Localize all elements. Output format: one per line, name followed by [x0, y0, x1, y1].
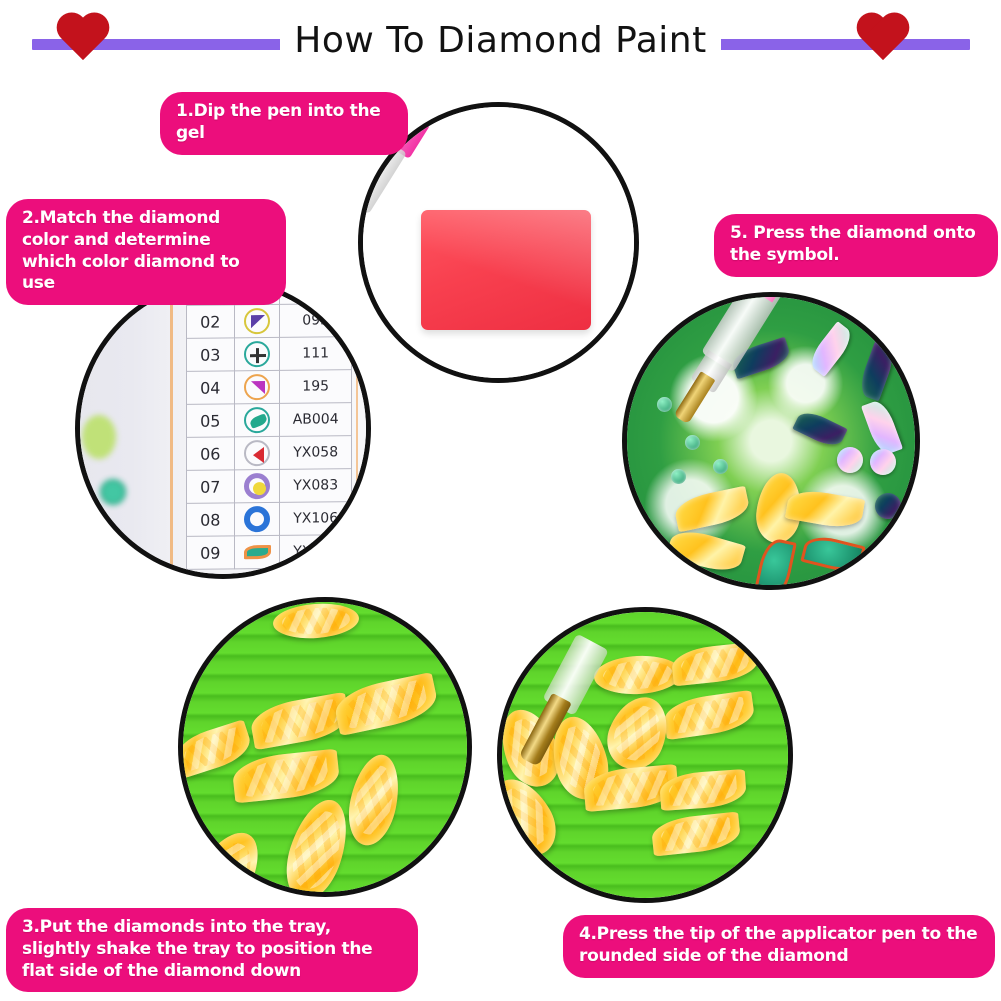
ab-gem	[806, 321, 857, 377]
chart-number: 06	[187, 437, 235, 470]
chart-scene: 01 020 02 093 03	[80, 283, 366, 574]
round-gem	[870, 449, 896, 475]
chart-number: 08	[187, 503, 235, 536]
step-5-label: 5. Press the diamond onto the symbol.	[714, 214, 998, 277]
arrow-left-icon	[244, 440, 270, 466]
diamond-gem	[650, 811, 741, 856]
green-printed-petal	[753, 536, 797, 590]
chart-symbol-cell	[234, 502, 280, 535]
chart-symbol-cell	[234, 535, 280, 568]
green-tray-scene	[183, 602, 467, 892]
table-row: 05 AB004	[187, 403, 352, 438]
chart-number: 09	[187, 536, 235, 569]
yellow-gem	[666, 525, 746, 576]
ring-icon	[244, 506, 270, 532]
page-title: How To Diamond Paint	[0, 20, 1001, 61]
chart-symbol-cell	[234, 469, 280, 502]
pen-gold-tip	[673, 371, 715, 424]
diamond-gem	[670, 642, 759, 687]
chart-symbol-cell	[234, 304, 280, 337]
table-row: 04 195	[187, 370, 352, 405]
step-1-label: 1.Dip the pen into the gel	[160, 92, 408, 155]
chart-number: 03	[187, 338, 235, 371]
chart-guide-line-left	[170, 283, 173, 574]
chart-symbol-cell	[234, 436, 280, 469]
table-row: 08 YX106	[187, 502, 352, 537]
canvas-blot-teal	[100, 479, 126, 505]
triangle-right-icon	[244, 374, 270, 400]
diamond-gem	[248, 692, 352, 750]
table-row: 03 111	[187, 337, 352, 372]
photo-pen-tip-on-diamond	[497, 607, 793, 903]
filled-circle-icon	[244, 473, 270, 499]
table-row: 07 YX083	[187, 469, 352, 504]
dark-gem	[856, 341, 898, 402]
green-tray-scene	[502, 612, 788, 898]
chart-symbol-cell	[234, 370, 280, 403]
chart-code: 195	[280, 370, 352, 404]
diamond-gem	[332, 672, 441, 736]
diamond-gem	[178, 821, 272, 897]
chart-code: YX058	[280, 436, 352, 470]
gel-scene	[363, 107, 634, 378]
chart-code: YX125	[280, 535, 352, 569]
leaf-icon	[244, 539, 270, 565]
yellow-gem	[672, 486, 751, 533]
chart-code: YX106	[280, 502, 352, 536]
diamond-gem	[276, 793, 358, 897]
chart-code: 020	[280, 278, 352, 304]
step-4-label: 4.Press the tip of the applicator pen to…	[563, 915, 995, 978]
chart-number: 05	[187, 404, 235, 437]
infographic-page: How To Diamond Paint 1.Dip the pen into …	[0, 0, 1001, 1001]
chart-code: 111	[280, 337, 352, 371]
triangle-left-icon	[244, 308, 270, 334]
table-row: 09 YX125	[187, 535, 352, 570]
printed-dot	[671, 469, 686, 484]
green-printed-petal	[800, 532, 865, 576]
round-gem	[837, 447, 863, 473]
diamond-gem	[272, 601, 360, 641]
page-title-text: How To Diamond Paint	[280, 20, 720, 61]
step-3-label: 3.Put the diamonds into the tray, slight…	[6, 908, 418, 992]
diamond-gem	[662, 690, 756, 740]
chart-number: 04	[187, 371, 235, 404]
color-chart-table: 01 020 02 093 03	[186, 278, 352, 570]
canvas-blot-green	[82, 415, 116, 459]
chart-symbol-cell	[234, 337, 280, 370]
chart-code: 093	[280, 304, 352, 338]
dark-gem	[792, 407, 847, 450]
red-gel-pad	[421, 210, 591, 330]
photo-pressing-diamond-onto-symbol	[622, 292, 920, 590]
photo-color-chart-closeup: 01 020 02 093 03	[75, 278, 371, 579]
diamond-gem	[342, 750, 406, 850]
step-2-label: 2.Match the diamond color and determine …	[6, 199, 286, 305]
printed-dot	[713, 459, 728, 474]
photo-diamonds-in-green-tray	[178, 597, 472, 897]
chart-symbol-cell	[234, 403, 280, 436]
round-gem	[875, 493, 901, 519]
diamond-gem	[231, 749, 341, 804]
applicator-pen	[650, 292, 787, 450]
table-row: 06 YX058	[187, 436, 352, 471]
chart-code: YX083	[280, 469, 352, 503]
table-row: 02 093	[187, 304, 352, 339]
chart-number: 02	[187, 305, 235, 338]
chart-code: AB004	[280, 403, 352, 437]
mandala-scene	[627, 297, 915, 585]
chart-guide-line-right-thin	[356, 283, 358, 574]
canvas-blot-yellow	[86, 523, 108, 541]
chart-number: 07	[187, 470, 235, 503]
plus-icon	[244, 341, 270, 367]
slanted-oval-icon	[244, 407, 270, 433]
